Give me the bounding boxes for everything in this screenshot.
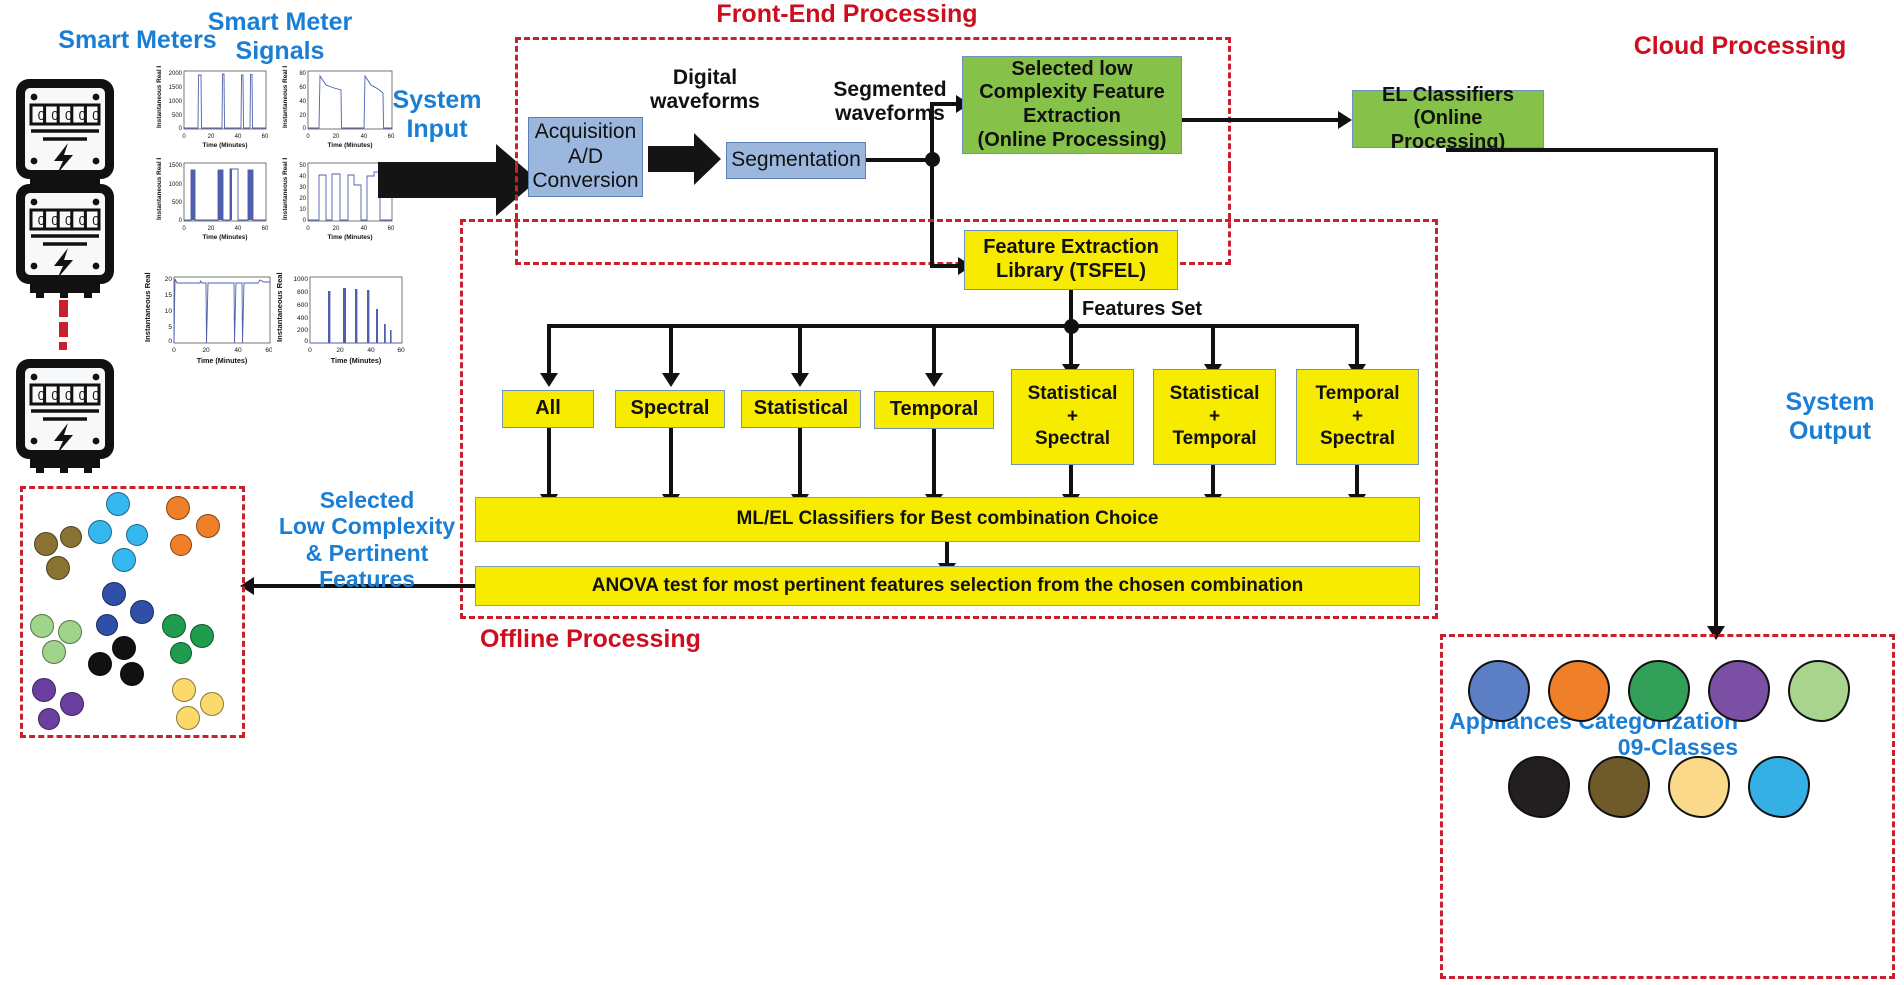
feature-box-stat-temp[interactable]: Statistical + Temporal: [1153, 369, 1276, 465]
smart-meter-icon-2: 0 0 0 0 0: [10, 180, 120, 305]
offline-processing-label: Offline Processing: [480, 625, 790, 654]
svg-text:40: 40: [299, 99, 306, 105]
svg-text:20: 20: [333, 134, 340, 140]
svg-text:0: 0: [38, 213, 45, 228]
connector-bus-all: [547, 324, 551, 375]
scatter-dot: [34, 532, 58, 556]
svg-text:0: 0: [92, 388, 99, 403]
svg-text:0: 0: [303, 126, 307, 132]
svg-text:40: 40: [367, 347, 375, 354]
scatter-dot: [88, 652, 112, 676]
scatter-dot: [130, 600, 154, 624]
scatter-dot: [60, 692, 84, 716]
scatter-dot: [170, 642, 192, 664]
ml-el-classifiers-bar[interactable]: ML/EL Classifiers for Best combination C…: [475, 497, 1420, 542]
scatter-dot: [166, 496, 190, 520]
front-end-processing-label: Front-End Processing: [612, 0, 1082, 29]
svg-text:60: 60: [397, 347, 405, 354]
svg-text:20: 20: [202, 347, 210, 354]
svg-text:30: 30: [299, 185, 306, 191]
appliance-blob-5: [1788, 660, 1850, 722]
svg-text:1000: 1000: [169, 182, 183, 188]
meter-ellipsis-dash-1: [59, 300, 68, 317]
feature-box-temp-spec[interactable]: Temporal + Spectral: [1296, 369, 1419, 465]
svg-text:500: 500: [172, 200, 183, 206]
appliance-blob-4: [1708, 660, 1770, 722]
feature-box-statistical[interactable]: Statistical: [741, 390, 861, 428]
svg-text:0: 0: [168, 338, 172, 345]
scatter-dot: [46, 556, 70, 580]
svg-text:10: 10: [165, 308, 173, 315]
svg-text:Instantaneous Real Power (W): Instantaneous Real Power (W): [282, 66, 289, 128]
arrow-digital-waveforms: [648, 131, 722, 192]
svg-text:10: 10: [299, 207, 306, 213]
svg-text:Time (Minutes): Time (Minutes): [328, 234, 373, 241]
scatter-dot: [200, 692, 224, 716]
svg-text:5: 5: [168, 324, 172, 331]
connector-right-to-feature-extraction: [930, 102, 958, 106]
segmentation-block[interactable]: Segmentation: [726, 142, 866, 179]
connector-stat-temp-to-mlel: [1211, 465, 1215, 497]
svg-text:Time (Minutes): Time (Minutes): [328, 142, 373, 149]
feature-box-stat-temp-line1: Statistical: [1170, 383, 1260, 405]
meter-ellipsis-dash-3: [59, 342, 67, 350]
feature-box-temporal[interactable]: Temporal: [874, 391, 994, 429]
svg-text:40: 40: [234, 347, 242, 354]
svg-text:1500: 1500: [169, 163, 183, 169]
connector-el-to-output: [1714, 148, 1718, 628]
svg-text:60: 60: [262, 134, 269, 140]
cloud-processing-label: Cloud Processing: [1600, 32, 1880, 61]
scatter-dot: [102, 582, 126, 606]
svg-text:80: 80: [299, 71, 306, 77]
appliance-blob-2: [1548, 660, 1610, 722]
el-classifiers-block[interactable]: EL Classifiers (Online Processing): [1352, 90, 1544, 148]
svg-text:0: 0: [308, 347, 312, 354]
signal-plot-6: Instantaneous Real Power (W) 1000 800 60…: [272, 272, 407, 373]
scatter-dot: [32, 678, 56, 702]
scatter-dot: [38, 708, 60, 730]
svg-text:40: 40: [361, 226, 368, 232]
svg-text:0: 0: [38, 108, 45, 123]
svg-text:400: 400: [297, 315, 308, 322]
selected-low-complexity-block[interactable]: Selected low Complexity Feature Extracti…: [962, 56, 1182, 154]
scatter-dot: [96, 614, 118, 636]
scatter-dot: [42, 640, 66, 664]
scatter-dot: [172, 678, 196, 702]
svg-text:20: 20: [165, 276, 173, 283]
svg-text:1000: 1000: [169, 99, 183, 105]
svg-text:0: 0: [306, 226, 310, 232]
svg-text:60: 60: [262, 226, 269, 232]
svg-text:0: 0: [92, 108, 99, 123]
svg-text:Time (Minutes): Time (Minutes): [197, 356, 248, 365]
svg-text:0: 0: [179, 126, 183, 132]
scatter-dot: [60, 526, 82, 548]
arrowhead-temporal: [925, 373, 943, 387]
svg-text:Time (Minutes): Time (Minutes): [203, 142, 248, 149]
scatter-dot: [112, 636, 136, 660]
connector-up-to-feature-extraction: [930, 102, 934, 160]
feature-box-stat-spec-line3: Spectral: [1035, 428, 1110, 450]
feature-box-temp-spec-line3: Spectral: [1320, 428, 1395, 450]
smart-meter-icon-3: 0 0 0 0 0: [10, 355, 120, 480]
scatter-dot: [120, 662, 144, 686]
svg-text:40: 40: [235, 134, 242, 140]
signal-plot-3: Instantaneous Real Power (W) 1500 1000 5…: [152, 158, 272, 249]
arrowhead-el-classifiers: [1338, 111, 1352, 129]
acquisition-block[interactable]: Acquisition A/D Conversion: [528, 117, 643, 197]
scatter-dot: [126, 524, 148, 546]
svg-text:Instantaneous Real Power (W): Instantaneous Real Power (W): [156, 66, 163, 128]
connector-el-right: [1446, 148, 1718, 152]
svg-text:0: 0: [38, 388, 45, 403]
feature-box-temp-spec-line2: +: [1352, 406, 1363, 428]
scatter-dot: [30, 614, 54, 638]
connector-bus-stat-spec: [1069, 324, 1073, 366]
svg-text:0: 0: [79, 213, 86, 228]
svg-text:0: 0: [65, 108, 72, 123]
feature-scatter-plot: [20, 486, 245, 738]
feature-box-all[interactable]: All: [502, 390, 594, 428]
svg-text:0: 0: [51, 213, 58, 228]
svg-text:60: 60: [299, 85, 306, 91]
svg-text:15: 15: [165, 292, 173, 299]
scatter-dot: [88, 520, 112, 544]
svg-text:0: 0: [303, 218, 307, 224]
svg-text:60: 60: [388, 226, 395, 232]
feature-box-stat-spec[interactable]: Statistical + Spectral: [1011, 369, 1134, 465]
appliance-class-blobs: [1440, 634, 1895, 979]
selected-features-label: Selected Low Complexity & Pertinent Feat…: [262, 487, 472, 593]
feature-box-spectral[interactable]: Spectral: [615, 390, 725, 428]
svg-text:20: 20: [208, 226, 215, 232]
appliance-blob-9: [1748, 756, 1810, 818]
svg-text:40: 40: [299, 174, 306, 180]
connector-to-el-classifiers: [1182, 118, 1342, 122]
svg-text:40: 40: [361, 134, 368, 140]
feature-box-stat-temp-line2: +: [1209, 406, 1220, 428]
svg-text:20: 20: [208, 134, 215, 140]
scatter-dot: [196, 514, 220, 538]
connector-bus-spectral: [669, 324, 673, 375]
svg-text:Instantaneous Real Power (W): Instantaneous Real Power (W): [156, 158, 163, 220]
svg-text:0: 0: [79, 388, 86, 403]
svg-text:0: 0: [92, 213, 99, 228]
anova-bar[interactable]: ANOVA test for most pertinent features s…: [475, 566, 1420, 606]
svg-text:0: 0: [51, 108, 58, 123]
svg-text:0: 0: [182, 226, 186, 232]
digital-waveforms-label: Digital waveforms: [625, 66, 785, 114]
svg-text:0: 0: [79, 108, 86, 123]
arrowhead-statistical: [791, 373, 809, 387]
signal-plot-5: Instantaneous Real Power (W) 20 15 10 5 …: [140, 272, 275, 373]
connector-temporal-to-mlel: [932, 429, 936, 497]
features-set-label: Features Set: [1082, 298, 1242, 321]
connector-spectral-to-mlel: [669, 428, 673, 497]
meter-ellipsis-dash-2: [59, 322, 68, 337]
svg-text:0: 0: [65, 213, 72, 228]
arrowhead-spectral: [662, 373, 680, 387]
svg-text:0: 0: [179, 218, 183, 224]
scatter-dot: [106, 492, 130, 516]
svg-text:0: 0: [51, 388, 58, 403]
appliance-blob-6: [1508, 756, 1570, 818]
connector-statistical-to-mlel: [798, 428, 802, 497]
scatter-dot: [170, 534, 192, 556]
scatter-dot: [162, 614, 186, 638]
svg-text:0: 0: [65, 388, 72, 403]
svg-text:20: 20: [333, 226, 340, 232]
connector-temp-spec-to-mlel: [1355, 465, 1359, 497]
svg-text:0: 0: [306, 134, 310, 140]
svg-text:800: 800: [297, 289, 308, 296]
svg-text:1000: 1000: [293, 276, 308, 283]
tsfel-block[interactable]: Feature Extraction Library (TSFEL): [964, 230, 1178, 290]
svg-text:200: 200: [297, 327, 308, 334]
feature-box-stat-spec-line2: +: [1067, 406, 1078, 428]
appliance-blob-1: [1468, 660, 1530, 722]
arrowhead-all: [540, 373, 558, 387]
svg-text:Instantaneous Real Power (W): Instantaneous Real Power (W): [143, 272, 152, 342]
svg-text:Time (Minutes): Time (Minutes): [203, 234, 248, 241]
svg-text:1500: 1500: [169, 85, 183, 91]
svg-text:40: 40: [235, 226, 242, 232]
connector-all-to-mlel: [547, 428, 551, 497]
svg-text:600: 600: [297, 302, 308, 309]
system-input-label: System Input: [372, 86, 502, 144]
svg-text:Instantaneous Real Power (W): Instantaneous Real Power (W): [282, 158, 289, 220]
connector-bus-stat-temp: [1211, 324, 1215, 366]
feature-box-stat-spec-line1: Statistical: [1028, 383, 1118, 405]
connector-bus-temporal: [932, 324, 936, 375]
svg-text:500: 500: [172, 113, 183, 119]
svg-text:0: 0: [182, 134, 186, 140]
appliance-blob-8: [1668, 756, 1730, 818]
svg-text:20: 20: [336, 347, 344, 354]
signal-plot-1: Instantaneous Real Power (W) 2000 1500 1…: [152, 66, 272, 157]
scatter-dot: [190, 624, 214, 648]
scatter-dot: [176, 706, 200, 730]
connector-bus-statistical: [798, 324, 802, 375]
scatter-dot: [112, 548, 136, 572]
connector-bus-temp-spec: [1355, 324, 1359, 366]
feature-box-temp-spec-line1: Temporal: [1315, 383, 1399, 405]
svg-text:50: 50: [299, 163, 306, 169]
svg-text:Time (Minutes): Time (Minutes): [331, 356, 382, 365]
svg-text:Instantaneous Real Power (W): Instantaneous Real Power (W): [275, 272, 284, 342]
appliance-blob-3: [1628, 660, 1690, 722]
system-output-label: System Output: [1756, 388, 1904, 446]
svg-text:0: 0: [172, 347, 176, 354]
appliance-blob-7: [1588, 756, 1650, 818]
scatter-dot: [58, 620, 82, 644]
svg-text:2000: 2000: [169, 71, 183, 77]
feature-box-stat-temp-line3: Temporal: [1172, 428, 1256, 450]
svg-text:0: 0: [304, 338, 308, 345]
connector-stat-spec-to-mlel: [1069, 465, 1073, 497]
smart-meter-signals-label: Smart Meter Signals: [140, 8, 420, 66]
svg-text:20: 20: [299, 196, 306, 202]
svg-text:20: 20: [299, 113, 306, 119]
